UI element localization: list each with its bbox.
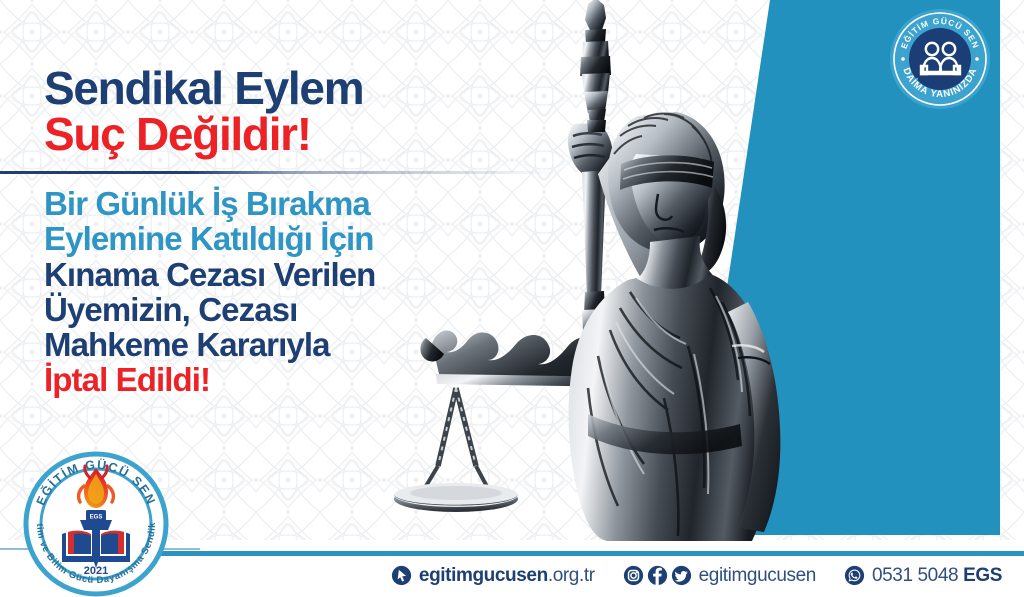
headline-line-2: Suç Değildir!: [44, 112, 474, 158]
twitter-icon[interactable]: [671, 565, 692, 586]
body-line-5: Mahkeme Kararıyla: [44, 327, 484, 362]
promotional-banner: Sendikal Eylem Suç Değildir! Bir Günlük …: [0, 0, 1024, 597]
whatsapp-icon: [844, 565, 865, 586]
body-copy-block: Bir Günlük İş Bırakma Eylemine Katıldığı…: [44, 186, 484, 398]
body-line-6: İptal Edildi!: [44, 362, 484, 397]
facebook-icon[interactable]: [647, 565, 668, 586]
website-text: egitimgucusen.org.tr: [419, 565, 595, 587]
body-line-1: Bir Günlük İş Bırakma: [44, 186, 484, 221]
body-line-3: Kınama Cezası Verilen: [44, 257, 484, 292]
body-line-4: Üyemizin, Cezası: [44, 292, 484, 327]
phone-number: 0531 5048: [872, 565, 963, 586]
phone-shortcode: EGS: [963, 565, 1002, 586]
cursor-click-icon: [391, 565, 412, 586]
body-line-2: Eylemine Katıldığı İçin: [44, 221, 484, 256]
phone-text: 0531 5048 EGS: [872, 565, 1002, 587]
social-handle: egitimgucusen: [699, 565, 816, 587]
headline-line-1: Sendikal Eylem: [44, 66, 474, 112]
social-icon-row: [623, 565, 692, 586]
social-group[interactable]: egitimgucusen: [623, 565, 816, 587]
headline-block: Sendikal Eylem Suç Değildir!: [44, 66, 474, 157]
svg-text:EGS: EGS: [90, 515, 103, 521]
website-name: egitimgucusen: [419, 565, 548, 586]
instagram-icon[interactable]: [623, 565, 644, 586]
website-tld: .org.tr: [548, 565, 595, 586]
phone-group[interactable]: 0531 5048 EGS: [844, 565, 1002, 587]
headline-divider: [0, 171, 575, 174]
always-by-your-side-badge: EĞİTİM GÜCÜ SEN DAİMA YANINIZDA: [889, 8, 991, 110]
footer-contact-bar: egitimgucusen.org.tr: [0, 554, 1024, 597]
website-group[interactable]: egitimgucusen.org.tr: [391, 565, 595, 587]
